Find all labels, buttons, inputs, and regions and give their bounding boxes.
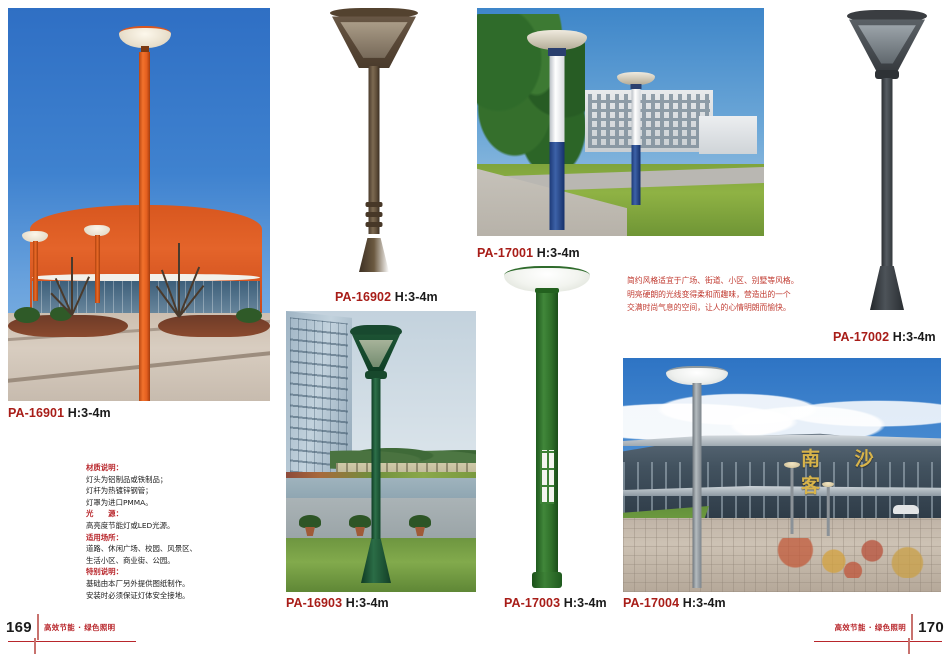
product-code: PA-17001	[477, 246, 533, 260]
product-label-pa-16902: PA-16902 H:3-4m	[335, 290, 438, 304]
product-height: H:3-4m	[68, 406, 111, 420]
pole-ring	[366, 202, 383, 207]
product-height: H:3-4m	[395, 290, 438, 304]
spec-line: 灯头为铝制品或铁制品；	[86, 474, 266, 486]
spec-heading-material: 材质说明：	[86, 462, 266, 474]
footer-underline-right	[814, 641, 942, 642]
product-code: PA-17002	[833, 330, 889, 344]
product-code: PA-16901	[8, 406, 64, 420]
lamp-pole	[882, 78, 893, 270]
product-code: PA-17004	[623, 596, 679, 610]
blue-pole-lamp-foreground	[527, 30, 587, 230]
product-code: PA-17003	[504, 596, 560, 610]
product-height: H:3-4m	[537, 246, 580, 260]
lamp-collar	[548, 48, 566, 56]
spec-line: 生活小区、商业街、公园。	[86, 555, 266, 567]
footer-left: 169 高效节能 · 绿色照明	[6, 614, 115, 640]
lamp-pole	[693, 383, 702, 588]
spec-line: 道路、休闲广场、校园、风景区、	[86, 543, 266, 555]
pole-upper-white-section	[632, 89, 641, 145]
bare-tree	[54, 257, 88, 315]
lamp-disc-head	[527, 30, 587, 50]
pole-top-cap	[535, 288, 559, 293]
product-height: H:3-4m	[893, 330, 936, 344]
footer-spine-right	[908, 638, 910, 654]
product-photo-pa-17003	[492, 264, 602, 592]
product-label-pa-16903: PA-16903 H:3-4m	[286, 596, 389, 610]
decorative-paving-pattern	[773, 538, 933, 578]
background-street-lamp	[84, 225, 112, 305]
office-building-wing	[699, 116, 757, 154]
pole-upper-white-section	[550, 56, 565, 142]
parked-car	[893, 505, 919, 514]
spec-heading-light-source: 光 源：	[86, 508, 266, 520]
footer-slogan: 高效节能 · 绿色照明	[835, 622, 906, 633]
spec-line: 灯罩为进口PMMA。	[86, 497, 266, 509]
planter-pot	[408, 512, 432, 536]
product-label-pa-17003: PA-17003 H:3-4m	[504, 596, 607, 610]
spec-line: 高亮度节能灯或LED光源。	[86, 520, 266, 532]
background-pole-lamp	[819, 482, 837, 536]
spec-heading-special-notes: 特别说明：	[86, 566, 266, 578]
spec-heading-applications: 适用场所：	[86, 532, 266, 544]
planter-pot	[298, 512, 322, 536]
lamp-pole	[139, 52, 150, 401]
product-code: PA-16902	[335, 290, 391, 304]
pole-lower-blue-section	[550, 142, 565, 230]
product-label-pa-17004: PA-17004 H:3-4m	[623, 596, 726, 610]
fluted-bronze-pole	[369, 66, 380, 234]
footer-underline-left	[8, 641, 136, 642]
product-photo-pa-17004: 南 沙 客	[623, 358, 941, 592]
product-photo-pa-17002	[832, 6, 942, 316]
page-number-left: 169	[6, 619, 32, 636]
product-label-pa-16901: PA-16901 H:3-4m	[8, 406, 111, 420]
gray-pole-lamp-fixture	[665, 366, 729, 588]
footer-divider	[37, 614, 39, 640]
product-photo-pa-16903	[286, 311, 476, 592]
spec-line: 基础由本厂另外提供图纸制作。	[86, 578, 266, 590]
product-photo-pa-16901	[8, 8, 270, 401]
blue-pole-lamp-background	[617, 72, 655, 210]
promo-line: 交满时尚气息的空间，让人的心情明朗而愉快。	[627, 301, 843, 315]
product-height: H:3-4m	[346, 596, 389, 610]
green-cylindrical-pole	[536, 288, 558, 578]
catalog-spread: PA-16901 H:3-4m PA-16902 H:3-4m	[0, 0, 950, 654]
bare-tree	[158, 243, 198, 317]
promo-line: 简约风格适宜于广场、街道、小区、别墅等风格。	[627, 274, 843, 288]
product-height: H:3-4m	[564, 596, 607, 610]
flared-base	[361, 539, 391, 583]
lamp-pole	[372, 378, 381, 550]
spec-line: 灯杆为热镀锌钢管；	[86, 485, 266, 497]
background-street-lamp	[22, 231, 50, 303]
shrub	[14, 307, 40, 323]
pole-base	[532, 572, 562, 588]
pole-ring	[366, 212, 383, 217]
footer-spine-left	[34, 638, 36, 654]
illuminated-window-panel	[540, 450, 554, 504]
page-number-right: 170	[918, 619, 944, 636]
product-photo-pa-17001	[477, 8, 764, 236]
product-code: PA-16903	[286, 596, 342, 610]
footer-right: 高效节能 · 绿色照明 170	[835, 614, 944, 640]
specification-text-block: 材质说明： 灯头为铝制品或铁制品； 灯杆为热镀锌钢管； 灯罩为进口PMMA。 光…	[86, 462, 266, 601]
green-lamp-fixture	[348, 325, 404, 587]
pole-lower-blue-section	[632, 145, 641, 205]
product-height: H:3-4m	[683, 596, 726, 610]
footer-divider	[911, 614, 913, 640]
product-label-pa-17001: PA-17001 H:3-4m	[477, 246, 580, 260]
pole-ring	[366, 222, 383, 227]
promotional-paragraph: 简约风格适宜于广场、街道、小区、别墅等风格。 明亮硬朗的光线变得柔和而趣味，营造…	[627, 274, 843, 315]
orange-pole-lamp-fixture	[128, 26, 162, 401]
product-label-pa-17002: PA-17002 H:3-4m	[833, 330, 936, 344]
shrub	[236, 308, 262, 323]
product-photo-pa-16902	[322, 6, 426, 276]
promo-line: 明亮硬朗的光线变得柔和而趣味，营造出的一个	[627, 288, 843, 302]
footer-slogan: 高效节能 · 绿色照明	[44, 622, 115, 633]
background-pole-lamp	[781, 462, 803, 534]
spec-line: 安装时必须保证灯体安全接地。	[86, 590, 266, 602]
lamp-shade	[352, 333, 400, 375]
